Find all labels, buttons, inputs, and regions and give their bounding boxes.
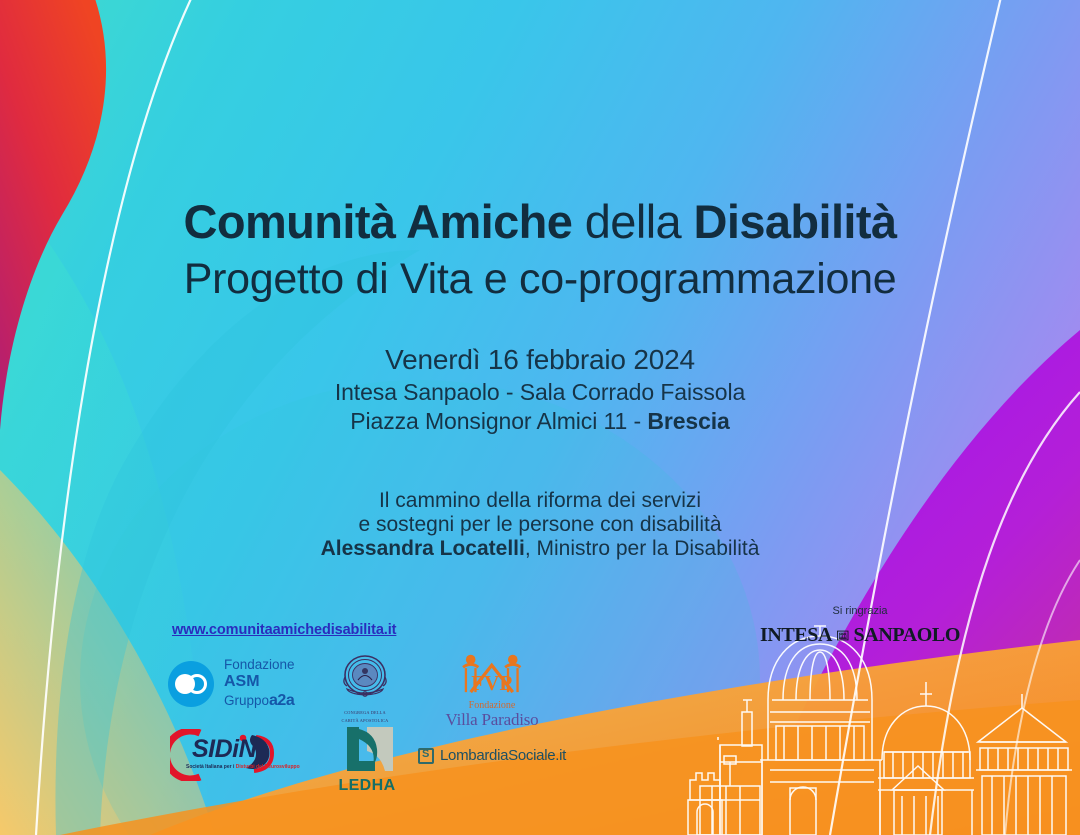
- asm-gruppo: Gruppo: [224, 693, 269, 708]
- logo-ledha: LEDHA: [336, 727, 398, 795]
- caritas-seal-icon: [338, 653, 392, 703]
- svg-text:FVP: FVP: [472, 671, 513, 694]
- logo-fondazione-villa-paradiso: FVP Fondazione Villa Paradiso: [440, 650, 544, 730]
- ledha-mark-icon: [337, 727, 397, 771]
- title-line-2: Progetto di Vita e co-programmazione: [0, 257, 1080, 302]
- fvp-line-2: Villa Paradiso: [440, 711, 544, 730]
- talk-block: Il cammino della riforma dei servizi e s…: [0, 489, 1080, 561]
- asm-line-2: ASM: [224, 673, 295, 692]
- logo-lombardia-sociale: LombardiaSociale.it: [418, 747, 566, 764]
- sidin-tagline: Società Italiana per i Disturbi del Neur…: [186, 764, 300, 770]
- ledha-wordmark: LEDHA: [336, 777, 398, 795]
- poster-canvas: Comunità Amiche della Disabilità Progett…: [0, 0, 1080, 835]
- title-line-1: Comunità Amiche della Disabilità: [0, 198, 1080, 247]
- event-date: Venerdì 16 febbraio 2024: [0, 344, 1080, 376]
- speaker-role: , Ministro per la Disabilità: [525, 537, 760, 560]
- sidin-tagline-a: Società Italiana per i: [186, 764, 236, 770]
- event-address: Piazza Monsignor Almici 11 - Brescia: [0, 408, 1080, 434]
- logo-fondazione-asm: Fondazione ASM Gruppoa2a: [168, 657, 295, 711]
- website-link[interactable]: www.comunitaamichedisabilita.it: [172, 622, 396, 638]
- asm-circles-icon: [168, 661, 214, 707]
- event-venue: Intesa Sanpaolo - Sala Corrado Faissola: [0, 379, 1080, 405]
- intesa-building-icon: [837, 627, 848, 644]
- caritas-caption-2: CARITÀ APOSTOLICA: [334, 718, 396, 724]
- title-light: della: [572, 195, 693, 248]
- talk-speaker-line: Alessandra Locatelli, Ministro per la Di…: [0, 537, 1080, 561]
- lombardia-sociale-mark-icon: [418, 748, 434, 764]
- fvp-figures-icon: FVP: [442, 650, 541, 694]
- logo-sidin: SIDiN Società Italiana per i Disturbi de…: [170, 729, 290, 781]
- caritas-caption-1: CONGREGA DELLA: [334, 710, 396, 716]
- title-bold-b: Disabilità: [694, 195, 897, 248]
- asm-line-3: Gruppoa2a: [224, 692, 295, 711]
- sanpaolo-word: SANPAOLO: [854, 624, 960, 647]
- poster-title: Comunità Amiche della Disabilità Progett…: [0, 198, 1080, 302]
- lombardia-sociale-wordmark: LombardiaSociale.it: [440, 747, 566, 764]
- sponsor-block: Si ringrazia INTESA SANPAOLO: [760, 605, 960, 647]
- event-address-street: Piazza Monsignor Almici 11 -: [350, 408, 647, 434]
- talk-line-1: Il cammino della riforma dei servizi: [0, 489, 1080, 513]
- speaker-name: Alessandra Locatelli: [321, 537, 525, 560]
- asm-line-1: Fondazione: [224, 657, 295, 673]
- title-bold-a: Comunità Amiche: [184, 195, 573, 248]
- logo-congrega-carita-apostolica: CONGREGA DELLA CARITÀ APOSTOLICA: [334, 653, 396, 725]
- event-address-city: Brescia: [647, 408, 729, 434]
- partner-logos: Fondazione ASM Gruppoa2a: [0, 645, 620, 795]
- event-details: Venerdì 16 febbraio 2024 Intesa Sanpaolo…: [0, 344, 1080, 434]
- intesa-sanpaolo-logo: INTESA SANPAOLO: [760, 624, 960, 647]
- sponsor-label: Si ringrazia: [760, 605, 960, 617]
- sidin-wordmark: SIDiN: [192, 735, 256, 764]
- talk-line-2: e sostegni per le persone con disabilità: [0, 513, 1080, 537]
- sidin-tagline-b: Disturbi del Neurosviluppo: [236, 764, 300, 770]
- intesa-word: INTESA: [760, 624, 832, 647]
- asm-a2a: a2a: [269, 692, 294, 709]
